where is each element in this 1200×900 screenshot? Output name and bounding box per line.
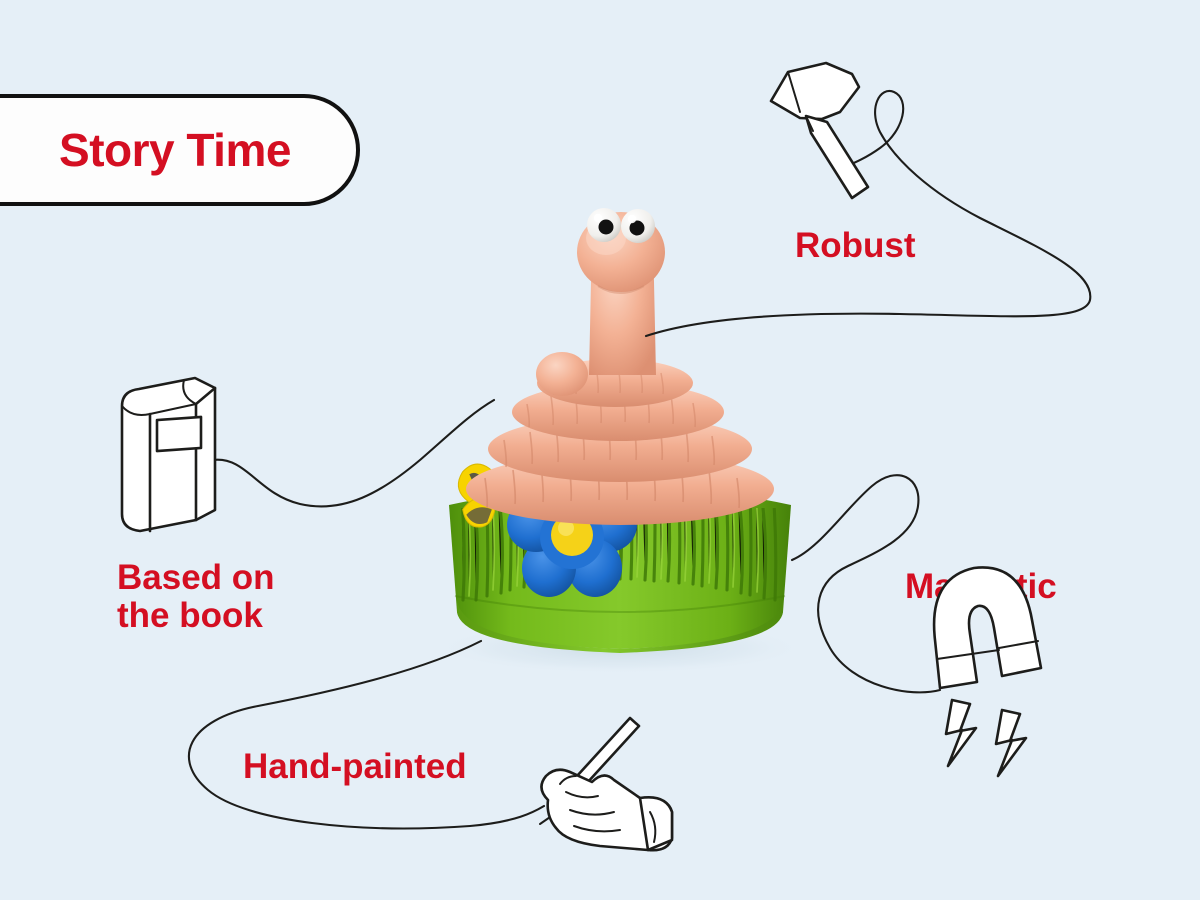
connector-line-robust — [646, 91, 1090, 336]
connector-line-book — [213, 400, 494, 506]
worm-tail-nub — [536, 352, 588, 396]
flower-petals — [507, 470, 637, 597]
story-time-badge-label: Story Time — [59, 123, 291, 177]
grass-highlight — [468, 473, 758, 596]
pupil-left — [599, 220, 614, 235]
grass-texture — [462, 473, 776, 600]
coil-segments-1 — [485, 459, 739, 508]
base-rim — [457, 600, 783, 653]
hand-with-paintbrush-icon — [540, 718, 672, 850]
googly-eyes — [587, 208, 655, 243]
story-time-badge[interactable]: Story Time — [0, 94, 360, 206]
worm-body — [466, 212, 774, 525]
connector-line-handpainted — [189, 641, 544, 828]
hammer-icon — [771, 63, 868, 198]
bee-detail — [451, 460, 508, 531]
worm-neck — [589, 240, 656, 375]
product-shadow — [435, 622, 805, 674]
feature-label-hand-painted: Hand-painted — [243, 748, 467, 786]
pupil-right — [630, 221, 645, 236]
coil-segments-2 — [504, 421, 714, 467]
feature-label-magnetic: Magnetic — [905, 568, 1057, 606]
lightning-bolt-left — [946, 700, 976, 766]
coil-segments-3 — [527, 388, 695, 427]
blue-flower — [507, 470, 637, 597]
feature-label-robust: Robust — [795, 227, 916, 265]
coil-segments-4 — [552, 365, 663, 395]
book-icon — [122, 378, 215, 531]
eye-right — [621, 209, 655, 243]
feature-label-based-on-the-book: Based on the book — [117, 559, 275, 635]
eye-left — [587, 208, 621, 242]
brush-handle — [556, 718, 639, 806]
feature-graphic-canvas: Story Time Robust Magnetic Based on the … — [0, 0, 1200, 900]
worm-head — [577, 212, 665, 292]
flower-center — [551, 514, 593, 556]
grass-base — [449, 473, 791, 653]
lightning-bolt-right — [996, 710, 1026, 776]
